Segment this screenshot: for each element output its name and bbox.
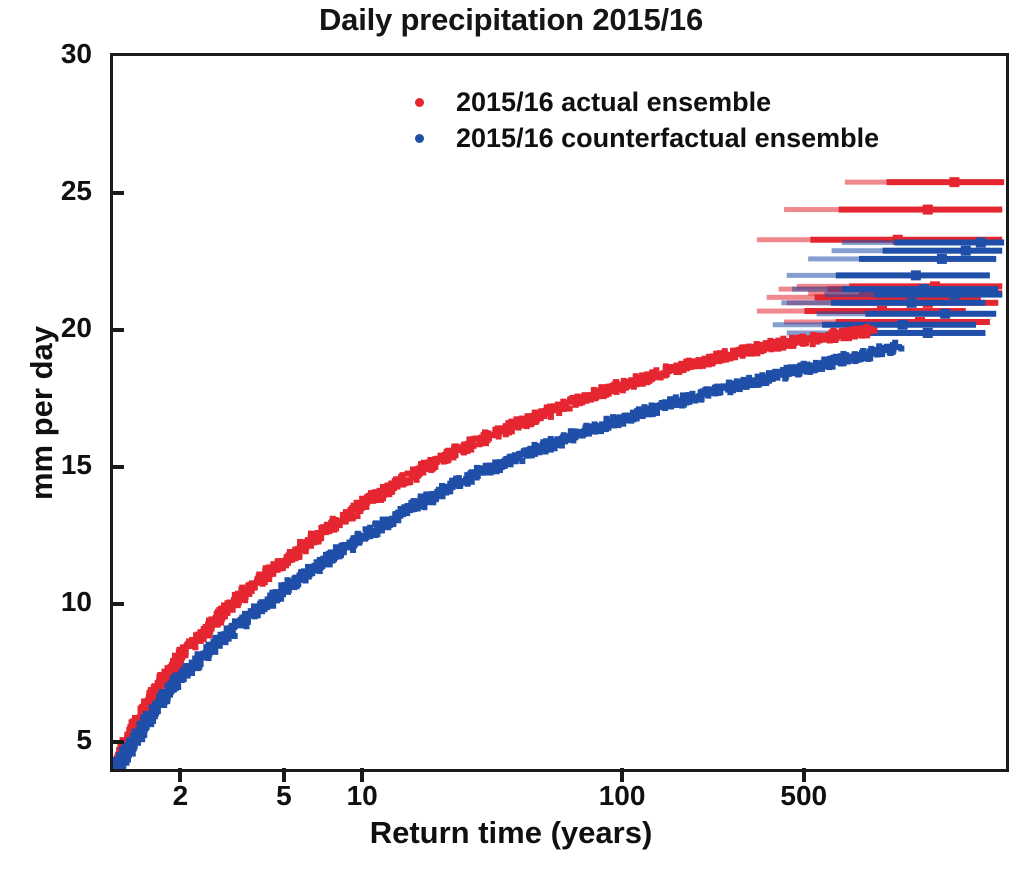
y-tick-10 xyxy=(110,602,124,606)
series-error-bars xyxy=(773,237,1004,337)
y-tick-label-25: 25 xyxy=(28,177,92,205)
y-tick-label-30: 30 xyxy=(28,40,92,68)
x-tick-label-100: 100 xyxy=(572,782,672,810)
series-band xyxy=(113,340,904,769)
x-tick-label-500: 500 xyxy=(754,782,854,810)
legend-item-counterfactual: 2015/16 counterfactual ensemble xyxy=(415,122,879,154)
series-band xyxy=(113,324,877,769)
legend-marker-counterfactual-icon xyxy=(415,134,424,143)
y-tick-label-5: 5 xyxy=(28,726,92,754)
legend-label-counterfactual: 2015/16 counterfactual ensemble xyxy=(456,125,879,152)
x-axis-title: Return time (years) xyxy=(0,815,1022,851)
chart-root: Daily precipitation 2015/16 510152025302… xyxy=(0,0,1022,869)
plot-area xyxy=(113,56,1006,769)
x-tick-label-10: 10 xyxy=(312,782,412,810)
legend-label-actual: 2015/16 actual ensemble xyxy=(456,89,771,116)
legend-marker-actual-icon xyxy=(415,98,424,107)
chart-legend: 2015/16 actual ensemble 2015/16 counterf… xyxy=(415,86,879,158)
y-tick-20 xyxy=(110,328,124,332)
y-axis-title: mm per day xyxy=(24,213,60,613)
y-tick-15 xyxy=(110,465,124,469)
y-tick-25 xyxy=(110,191,124,195)
y-tick-5 xyxy=(110,740,124,744)
scatter-plot-canvas xyxy=(113,56,1006,769)
page-title: Daily precipitation 2015/16 xyxy=(0,2,1022,38)
legend-item-actual: 2015/16 actual ensemble xyxy=(415,86,879,118)
x-tick-label-2: 2 xyxy=(130,782,230,810)
